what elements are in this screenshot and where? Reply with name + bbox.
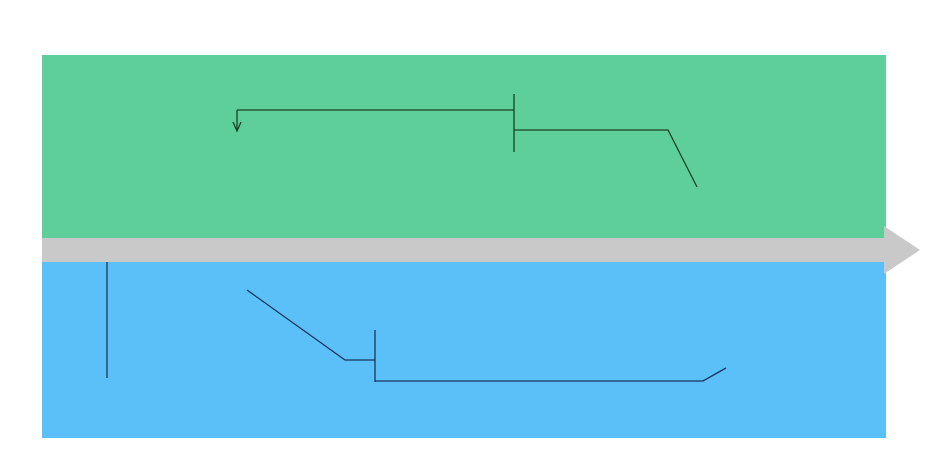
cloud-services-band bbox=[42, 262, 886, 438]
timeline-arrowhead-icon bbox=[884, 226, 920, 274]
on-premises-band bbox=[42, 55, 886, 238]
infographic-canvas bbox=[0, 0, 926, 467]
timeline-bar bbox=[42, 238, 886, 262]
